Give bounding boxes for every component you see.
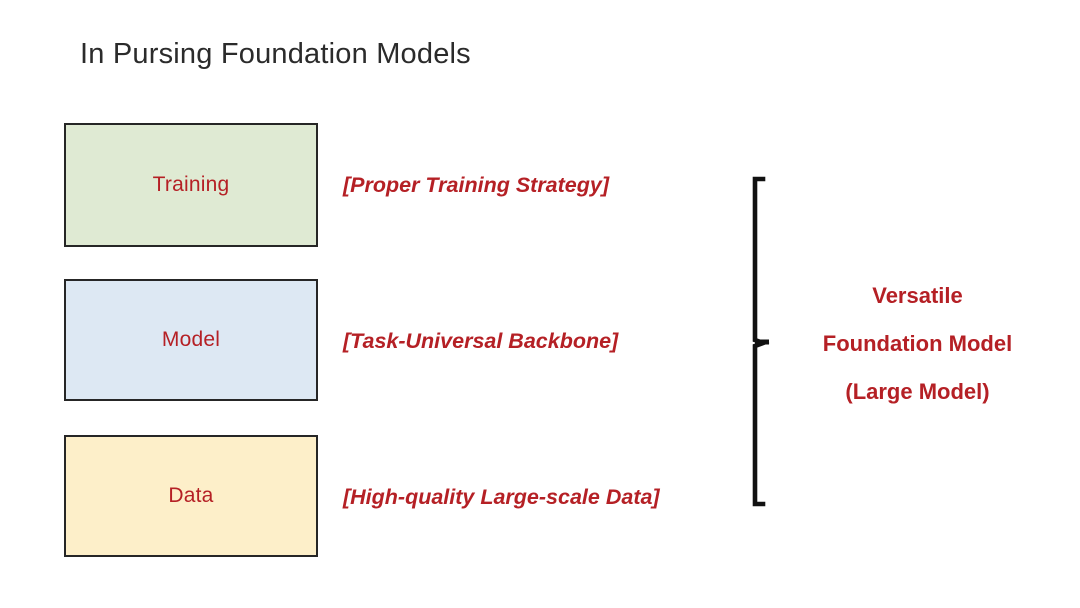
result-line-3: (Large Model) [790, 368, 1045, 416]
result-line-2: Foundation Model [790, 320, 1045, 368]
pillar-note-data: [High-quality Large-scale Data] [343, 485, 660, 510]
pillar-note-training: [Proper Training Strategy] [343, 173, 609, 198]
pillar-label: Model [162, 328, 220, 352]
slide-canvas: In Pursing Foundation Models Training [P… [0, 0, 1080, 608]
pillar-note-model: [Task-Universal Backbone] [343, 329, 618, 354]
page-title: In Pursing Foundation Models [80, 38, 471, 71]
pillar-box-training: Training [64, 123, 318, 247]
pillar-label: Data [168, 484, 213, 508]
result-text-block: Versatile Foundation Model (Large Model) [790, 272, 1045, 416]
pillar-label: Training [153, 173, 230, 197]
curly-brace-icon [737, 170, 787, 515]
result-line-1: Versatile [790, 272, 1045, 320]
pillar-box-data: Data [64, 435, 318, 557]
pillar-box-model: Model [64, 279, 318, 401]
